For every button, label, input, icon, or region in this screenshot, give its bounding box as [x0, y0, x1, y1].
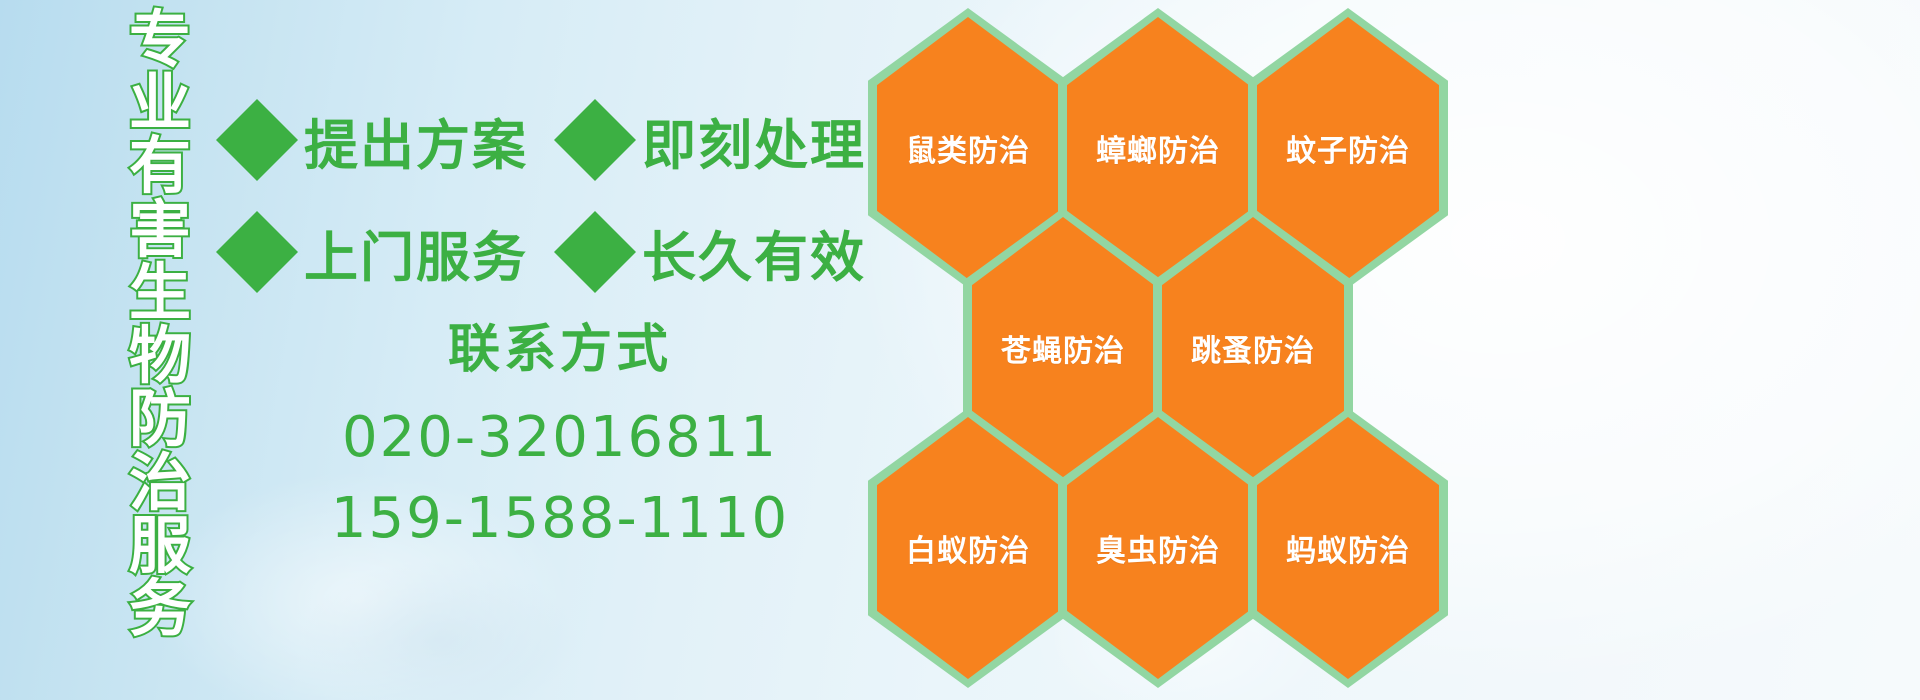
feature-item-onsite-service: 上门服务 [228, 213, 528, 292]
feature-item-immediate-handling: 即刻处理 [566, 101, 866, 180]
feature-label: 长久有效 [642, 213, 866, 292]
hex-cell-bedbug-control[interactable]: 臭虫防治 [1058, 408, 1258, 688]
hex-label: 鼠类防治 [868, 126, 1068, 170]
contact-heading: 联系方式 [300, 318, 820, 383]
feature-label: 提出方案 [304, 101, 528, 180]
vertical-headline: 专 业 有 害 生 物 防 治 服 务 [112, 8, 208, 568]
background-glow-lower-left [300, 560, 580, 700]
service-honeycomb: 鼠类防治 蟑螂防治 蚊子防治 苍蝇防治 跳蚤防治 白蚁防治 [860, 0, 1480, 700]
vertical-headline-char: 服 [129, 514, 191, 577]
contact-phone-mobile[interactable]: 159-1588-1110 [300, 478, 820, 559]
vertical-headline-char: 有 [129, 134, 191, 197]
feature-item-propose-plan: 提出方案 [228, 101, 528, 180]
vertical-headline-char: 防 [129, 387, 191, 450]
promotional-banner: 专 业 有 害 生 物 防 治 服 务 提出方案 即刻处理 上门服务 [0, 0, 1920, 700]
vertical-headline-char: 物 [129, 324, 191, 387]
vertical-headline-char: 专 [129, 8, 191, 71]
feature-list: 提出方案 即刻处理 上门服务 长久有效 [228, 84, 868, 308]
contact-phone-landline[interactable]: 020-32016811 [300, 397, 820, 478]
contact-block: 联系方式 020-32016811 159-1588-1110 [300, 318, 820, 559]
vertical-headline-char: 害 [129, 198, 191, 261]
hex-label: 蟑螂防治 [1058, 126, 1258, 170]
feature-row: 提出方案 即刻处理 [228, 84, 868, 196]
hex-cell-ant-control[interactable]: 蚂蚁防治 [1248, 408, 1448, 688]
vertical-headline-char: 业 [129, 71, 191, 134]
hex-label: 白蚁防治 [868, 526, 1068, 570]
vertical-headline-char: 务 [129, 577, 191, 640]
hex-label: 蚊子防治 [1248, 126, 1448, 170]
diamond-icon [216, 99, 298, 181]
vertical-headline-char: 生 [129, 261, 191, 324]
vertical-headline-char: 治 [129, 451, 191, 514]
feature-label: 上门服务 [304, 213, 528, 292]
hex-label: 苍蝇防治 [963, 326, 1163, 370]
feature-item-long-lasting: 长久有效 [566, 213, 866, 292]
diamond-icon [216, 211, 298, 293]
hex-cell-termite-control[interactable]: 白蚁防治 [868, 408, 1068, 688]
diamond-icon [554, 211, 636, 293]
feature-label: 即刻处理 [642, 101, 866, 180]
feature-row: 上门服务 长久有效 [228, 196, 868, 308]
diamond-icon [554, 99, 636, 181]
hex-label: 臭虫防治 [1058, 526, 1258, 570]
hex-label: 蚂蚁防治 [1248, 526, 1448, 570]
hex-label: 跳蚤防治 [1153, 326, 1353, 370]
